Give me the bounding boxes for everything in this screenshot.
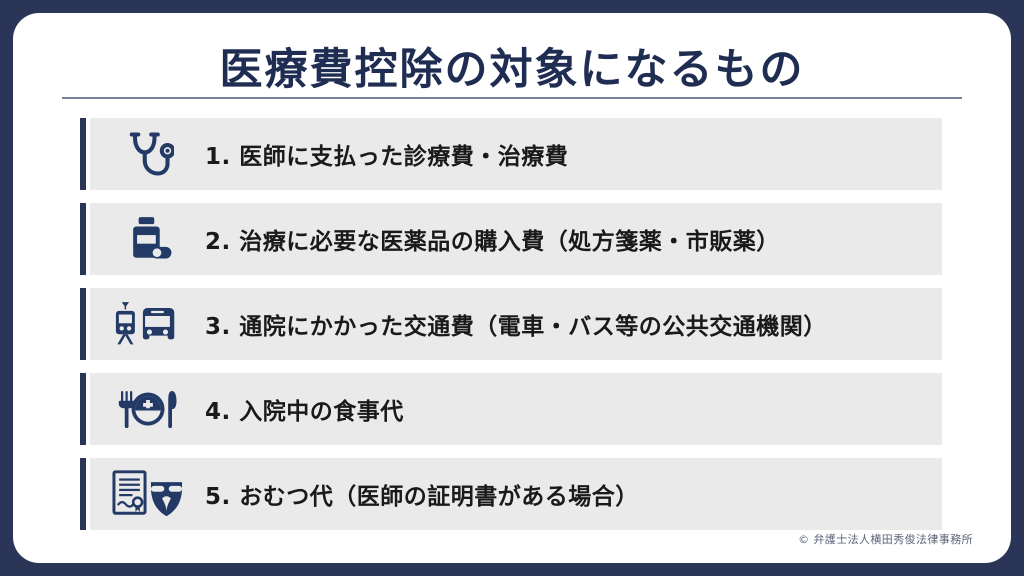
list-item-label: 4. 入院中の食事代 — [205, 392, 404, 426]
list-item[interactable]: 1. 医師に支払った診療費・治療費 — [80, 118, 942, 190]
list-item[interactable]: 5. おむつ代（医師の証明書がある場合） — [80, 458, 942, 530]
slide-card: 医療費控除の対象になるもの 1. 医師に支払った診療費・治療 — [13, 13, 1011, 563]
list-item-label: 1. 医師に支払った診療費・治療費 — [205, 137, 568, 171]
copyright-footer: © 弁護士法人横田秀俊法律事務所 — [798, 531, 973, 547]
stethoscope-icon — [80, 118, 205, 190]
page-title: 医療費控除の対象になるもの — [13, 35, 1011, 97]
list-item-label: 5. おむつ代（医師の証明書がある場合） — [205, 477, 639, 511]
list-item[interactable]: 4. 入院中の食事代 — [80, 373, 942, 445]
deduction-item-list: 1. 医師に支払った診療費・治療費 — [80, 118, 942, 543]
meal-plate-icon — [80, 373, 205, 445]
train-bus-icon — [80, 288, 205, 360]
slide-root: 医療費控除の対象になるもの 1. 医師に支払った診療費・治療 — [0, 0, 1024, 576]
medicine-bottle-pill-icon — [80, 203, 205, 275]
list-item-label: 2. 治療に必要な医薬品の購入費（処方箋薬・市販薬） — [205, 222, 780, 256]
certificate-diaper-icon — [80, 458, 205, 530]
list-item[interactable]: 2. 治療に必要な医薬品の購入費（処方箋薬・市販薬） — [80, 203, 942, 275]
list-item-label: 3. 通院にかかった交通費（電車・バス等の公共交通機関） — [205, 307, 827, 341]
title-divider — [62, 97, 962, 99]
list-item[interactable]: 3. 通院にかかった交通費（電車・バス等の公共交通機関） — [80, 288, 942, 360]
